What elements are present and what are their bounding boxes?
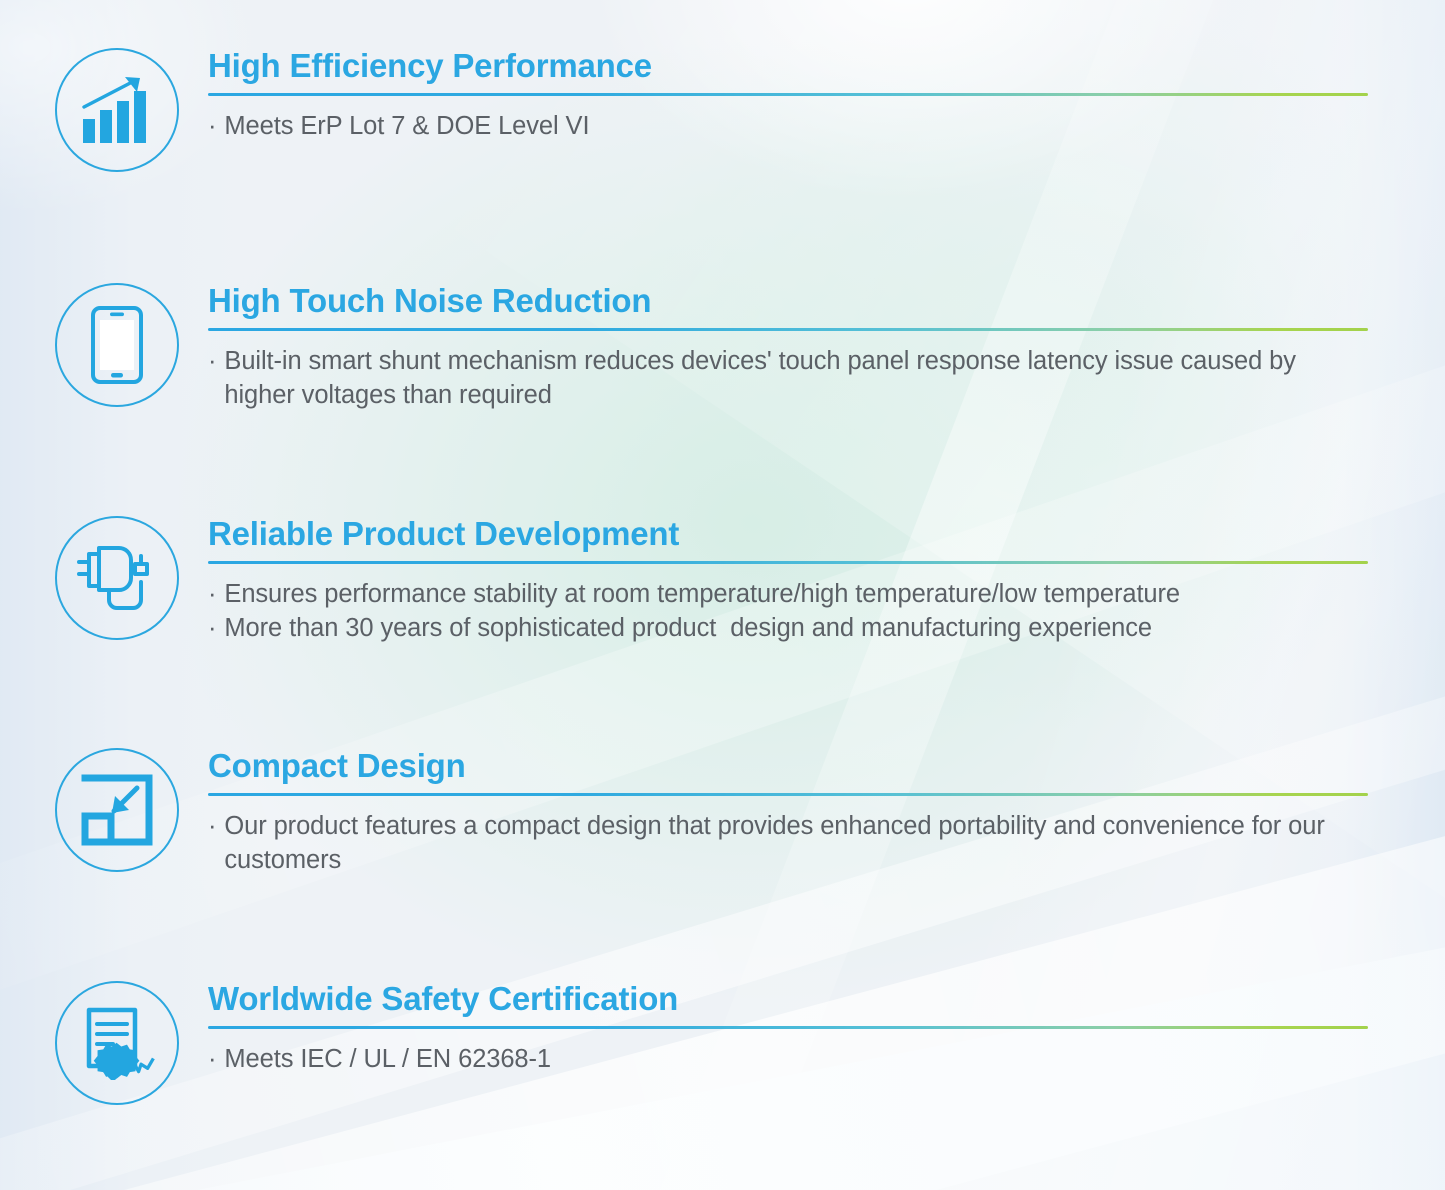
- feature-content: High Touch Noise Reduction · Built-in sm…: [208, 283, 1368, 413]
- feature-divider: [208, 1026, 1368, 1029]
- feature-content: Worldwide Safety Certification · Meets I…: [208, 981, 1368, 1076]
- feature-content: Compact Design · Our product features a …: [208, 748, 1368, 878]
- feature-bullets: · Built-in smart shunt mechanism reduces…: [208, 344, 1368, 413]
- feature-icon-wrap: [55, 48, 179, 172]
- feature-divider: [208, 93, 1368, 96]
- feature-icon-wrap: [55, 981, 179, 1105]
- feature-title: Reliable Product Development: [208, 516, 1368, 552]
- feature-bullets: · Meets ErP Lot 7 & DOE Level VI: [208, 109, 1368, 144]
- feature-highlights-page: High Efficiency Performance · Meets ErP …: [0, 0, 1445, 1190]
- bullet-text: More than 30 years of sophisticated prod…: [224, 611, 1368, 646]
- bullet-marker: ·: [208, 577, 216, 612]
- bullet-text: Meets ErP Lot 7 & DOE Level VI: [224, 109, 1368, 144]
- feature-bullets: · Ensures performance stability at room …: [208, 577, 1368, 646]
- feature-icon-wrap: [55, 516, 179, 640]
- feature-icon-wrap: [55, 283, 179, 407]
- feature-content: Reliable Product Development · Ensures p…: [208, 516, 1368, 646]
- bullet-text: Ensures performance stability at room te…: [224, 577, 1368, 612]
- bar-chart-growth-icon: [55, 48, 179, 172]
- bullet-item: · Ensures performance stability at room …: [208, 577, 1368, 612]
- bullet-marker: ·: [208, 344, 216, 379]
- bullet-item: · Built-in smart shunt mechanism reduces…: [208, 344, 1368, 413]
- feature-icon-wrap: [55, 748, 179, 872]
- feature-title: High Efficiency Performance: [208, 48, 1368, 84]
- feature-bullets: · Our product features a compact design …: [208, 809, 1368, 878]
- feature-divider: [208, 328, 1368, 331]
- feature-divider: [208, 561, 1368, 564]
- bullet-marker: ·: [208, 1042, 216, 1077]
- feature-list: High Efficiency Performance · Meets ErP …: [0, 0, 1445, 1190]
- bullet-item: · Our product features a compact design …: [208, 809, 1368, 878]
- feature-divider: [208, 793, 1368, 796]
- smartphone-icon: [55, 283, 179, 407]
- power-adapter-icon: [55, 516, 179, 640]
- feature-content: High Efficiency Performance · Meets ErP …: [208, 48, 1368, 143]
- bullet-item: · More than 30 years of sophisticated pr…: [208, 611, 1368, 646]
- feature-title: Compact Design: [208, 748, 1368, 784]
- bullet-text: Meets IEC / UL / EN 62368-1: [224, 1042, 1368, 1077]
- bullet-marker: ·: [208, 809, 216, 844]
- feature-title: High Touch Noise Reduction: [208, 283, 1368, 319]
- feature-bullets: · Meets IEC / UL / EN 62368-1: [208, 1042, 1368, 1077]
- certificate-seal-icon: [55, 981, 179, 1105]
- bullet-marker: ·: [208, 109, 216, 144]
- bullet-item: · Meets IEC / UL / EN 62368-1: [208, 1042, 1368, 1077]
- compact-resize-icon: [55, 748, 179, 872]
- bullet-text: Our product features a compact design th…: [224, 809, 1368, 878]
- bullet-text: Built-in smart shunt mechanism reduces d…: [224, 344, 1368, 413]
- bullet-item: · Meets ErP Lot 7 & DOE Level VI: [208, 109, 1368, 144]
- feature-title: Worldwide Safety Certification: [208, 981, 1368, 1017]
- bullet-marker: ·: [208, 611, 216, 646]
